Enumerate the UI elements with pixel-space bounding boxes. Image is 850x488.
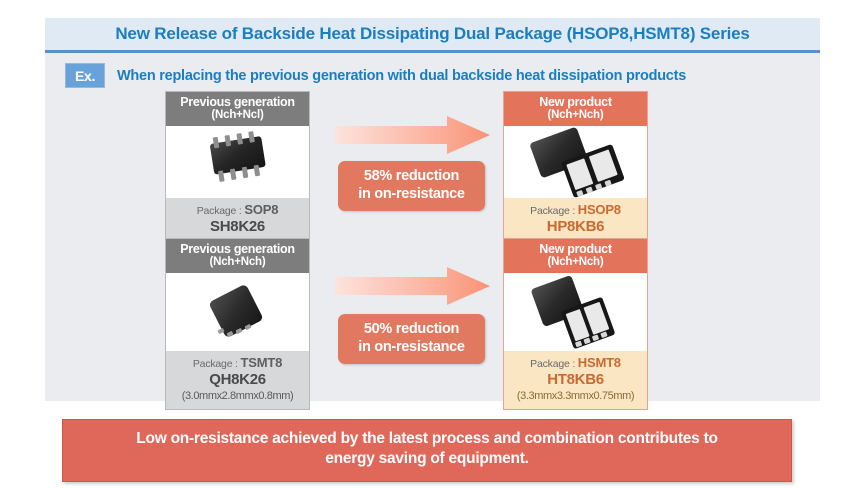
package-value: HSOP8 (578, 202, 621, 217)
package-label: Package : (530, 205, 578, 217)
package-pad (566, 158, 593, 190)
package-lead (213, 137, 220, 149)
package-value: HSMT8 (578, 355, 621, 370)
package-pin (583, 337, 590, 344)
sop8-package-icon (201, 129, 273, 185)
summary-line-1: Low on-resistance achieved by the latest… (77, 429, 777, 449)
card-title-sub: (Nch+Nch) (504, 109, 647, 122)
part-number: HP8KB6 (506, 218, 645, 236)
package-line: Package : HSOP8 (506, 202, 645, 218)
package-pin (586, 186, 593, 193)
tsmt8-package-image (166, 273, 309, 351)
package-line: Package : HSMT8 (506, 355, 645, 371)
part-number: QH8K26 (168, 371, 307, 389)
package-lead (225, 135, 232, 147)
package-lead (248, 131, 255, 143)
sop8-package-image (166, 126, 309, 198)
card-title-main: New product (504, 242, 647, 256)
package-label: Package : (193, 358, 241, 370)
hsmt8-package-icon (524, 279, 634, 349)
package-pad (235, 328, 242, 334)
comparison-row-1: Previous generation (Nch+Ncl) (45, 91, 820, 223)
slide-root: New Release of Backside Heat Dissipating… (0, 0, 850, 488)
package-pin (576, 190, 583, 197)
package-label: Package : (530, 358, 578, 370)
summary-banner: Low on-resistance achieved by the latest… (62, 419, 792, 482)
card-title-main: Previous generation (166, 95, 309, 109)
page-title: New Release of Backside Heat Dissipating… (115, 24, 749, 44)
right-arrow-icon (335, 115, 490, 155)
card-title-sub: (Nch+Nch) (504, 256, 647, 269)
summary-line-2: energy saving of equipment. (77, 449, 777, 469)
package-line: Package : SOP8 (168, 202, 307, 218)
previous-generation-card-2: Previous generation (Nch+Nch) Package : … (165, 238, 310, 410)
package-dimensions: (3.0mmx2.8mmx0.8mm) (168, 390, 307, 403)
previous-generation-card-1: Previous generation (Nch+Ncl) (165, 91, 310, 257)
package-lead (236, 133, 243, 145)
card-title-sub: (Nch+Nch) (166, 256, 309, 269)
hsmt8-package-image (504, 273, 647, 351)
package-pin (592, 334, 599, 341)
card-footer-previous-2: Package : TSMT8 QH8K26 (3.0mmx2.8mmx0.8m… (166, 351, 309, 409)
reduction-subject: in on-resistance (338, 186, 485, 204)
package-pad (244, 324, 251, 330)
card-header-previous-2: Previous generation (Nch+Nch) (166, 239, 309, 273)
package-pin (604, 180, 611, 187)
package-label: Package : (197, 205, 245, 217)
new-product-card-1: New product (Nch+Nch) (503, 91, 648, 257)
hsop8-package-icon (518, 130, 638, 196)
package-line: Package : TSMT8 (168, 355, 307, 371)
package-value: TSMT8 (241, 355, 283, 370)
package-pad (226, 331, 233, 337)
new-product-card-2: New product (Nch+Nch) (503, 238, 648, 410)
card-header-previous-1: Previous generation (Nch+Ncl) (166, 92, 309, 126)
tsmt8-package-icon (208, 287, 266, 339)
card-header-new-1: New product (Nch+Nch) (504, 92, 647, 126)
package-dimensions: (3.3mmx3.3mmx0.75mm) (506, 390, 645, 403)
card-title-main: New product (504, 95, 647, 109)
package-value: SOP8 (244, 202, 278, 217)
reduction-badge-1: 58% reduction in on-resistance (338, 161, 485, 211)
reduction-percent: 58% reduction (338, 168, 485, 186)
card-title-sub: (Nch+Ncl) (166, 109, 309, 122)
card-header-new-2: New product (Nch+Nch) (504, 239, 647, 273)
content-panel: Ex. When replacing the previous generati… (45, 53, 820, 401)
reduction-badge-2: 50% reduction in on-resistance (338, 314, 485, 364)
package-pad (589, 149, 618, 182)
part-number: HT8KB6 (506, 371, 645, 389)
example-row: Ex. When replacing the previous generati… (65, 63, 686, 88)
package-pin (575, 340, 582, 347)
hsop8-package-image (504, 126, 647, 198)
package-pin (595, 183, 602, 190)
card-title-main: Previous generation (166, 242, 309, 256)
header-band: New Release of Backside Heat Dissipating… (45, 18, 820, 53)
reduction-percent: 50% reduction (338, 321, 485, 339)
card-footer-new-2: Package : HSMT8 HT8KB6 (3.3mmx3.3mmx0.75… (504, 351, 647, 409)
package-pin (600, 331, 607, 338)
comparison-row-2: Previous generation (Nch+Nch) Package : … (45, 238, 820, 370)
part-number: SH8K26 (168, 218, 307, 236)
example-badge: Ex. (65, 63, 105, 88)
right-arrow-icon (335, 266, 490, 306)
reduction-subject: in on-resistance (338, 339, 485, 357)
example-text: When replacing the previous generation w… (117, 68, 686, 84)
